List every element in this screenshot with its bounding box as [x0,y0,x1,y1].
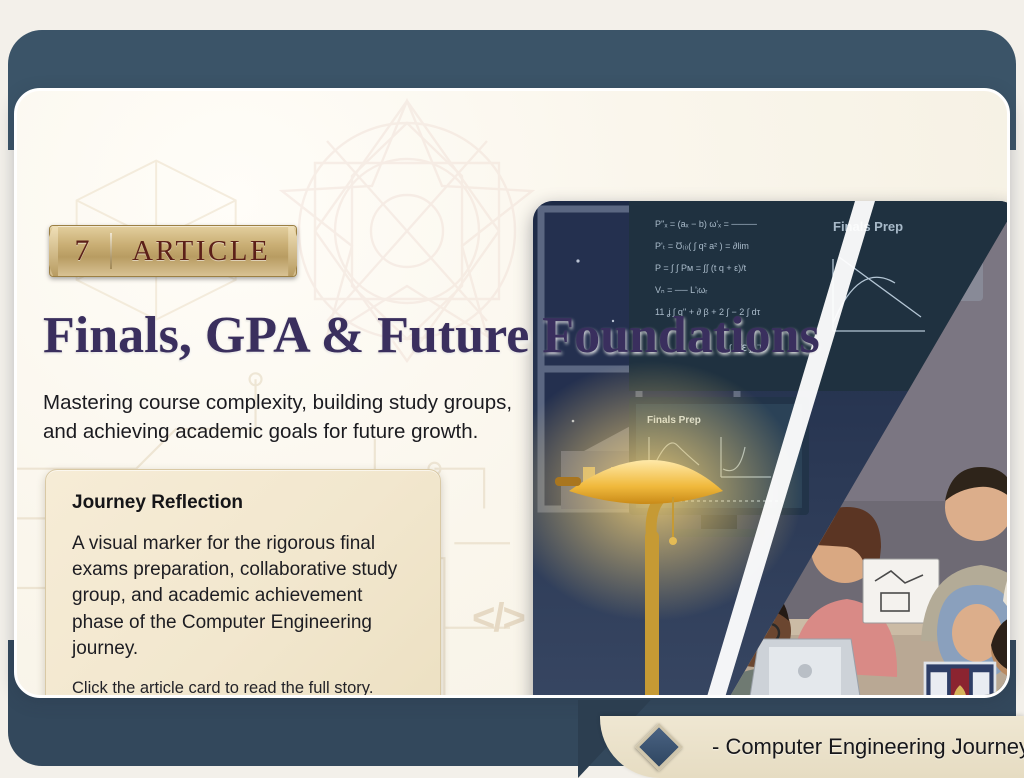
diamond-icon [635,723,683,771]
article-illustration[interactable]: P''ₓ = (aₓ − b) ω'ₓ = ──── P'ₜ = Ʊ₍ᵢ₎( ∫… [533,201,1010,698]
svg-text:P''ₓ = (aₓ − b) ω'ₓ = ────: P''ₓ = (aₓ − b) ω'ₓ = ──── [655,219,757,229]
svg-text:P'ₜ = Ʊ₍ᵢ₎( ∫ q² a² ) = ∂lim: P'ₜ = Ʊ₍ᵢ₎( ∫ q² a² ) = ∂lim [655,241,749,251]
page-subtitle: Mastering course complexity, building st… [43,388,543,446]
footer-bar: - Computer Engineering Journeys [600,716,1024,778]
article-number-plaque: 7 ARTICLE [49,225,297,277]
reflection-title: Journey Reflection [72,492,414,514]
slide-root: </> 7 ARTICLE Finals, GPA & Future Found… [0,0,1024,778]
svg-text:Vₙ = ── L'ᵢωᵣ: Vₙ = ── L'ᵢωᵣ [655,285,707,295]
university-crest-shield [918,663,1003,698]
journey-reflection-card: Journey Reflection A visual marker for t… [45,469,441,698]
article-card[interactable]: </> 7 ARTICLE Finals, GPA & Future Found… [14,88,1010,698]
reflection-body: A visual marker for the rigorous final e… [72,531,414,662]
article-number: 7 [54,226,110,276]
svg-text:P = ∫ ∫ Pᴍ = ∫∫ (t q + ε): P = ∫ ∫ Pᴍ = ∫∫ (t q + ε)/t [655,263,747,273]
footer-label: - Computer Engineering Journeys [712,734,1024,760]
reflection-cta[interactable]: Click the article card to read the full … [72,679,414,698]
article-label: ARTICLE [112,226,292,276]
page-title: Finals, GPA & Future Foundations [43,309,923,364]
code-brackets-icon: </> [472,596,524,641]
